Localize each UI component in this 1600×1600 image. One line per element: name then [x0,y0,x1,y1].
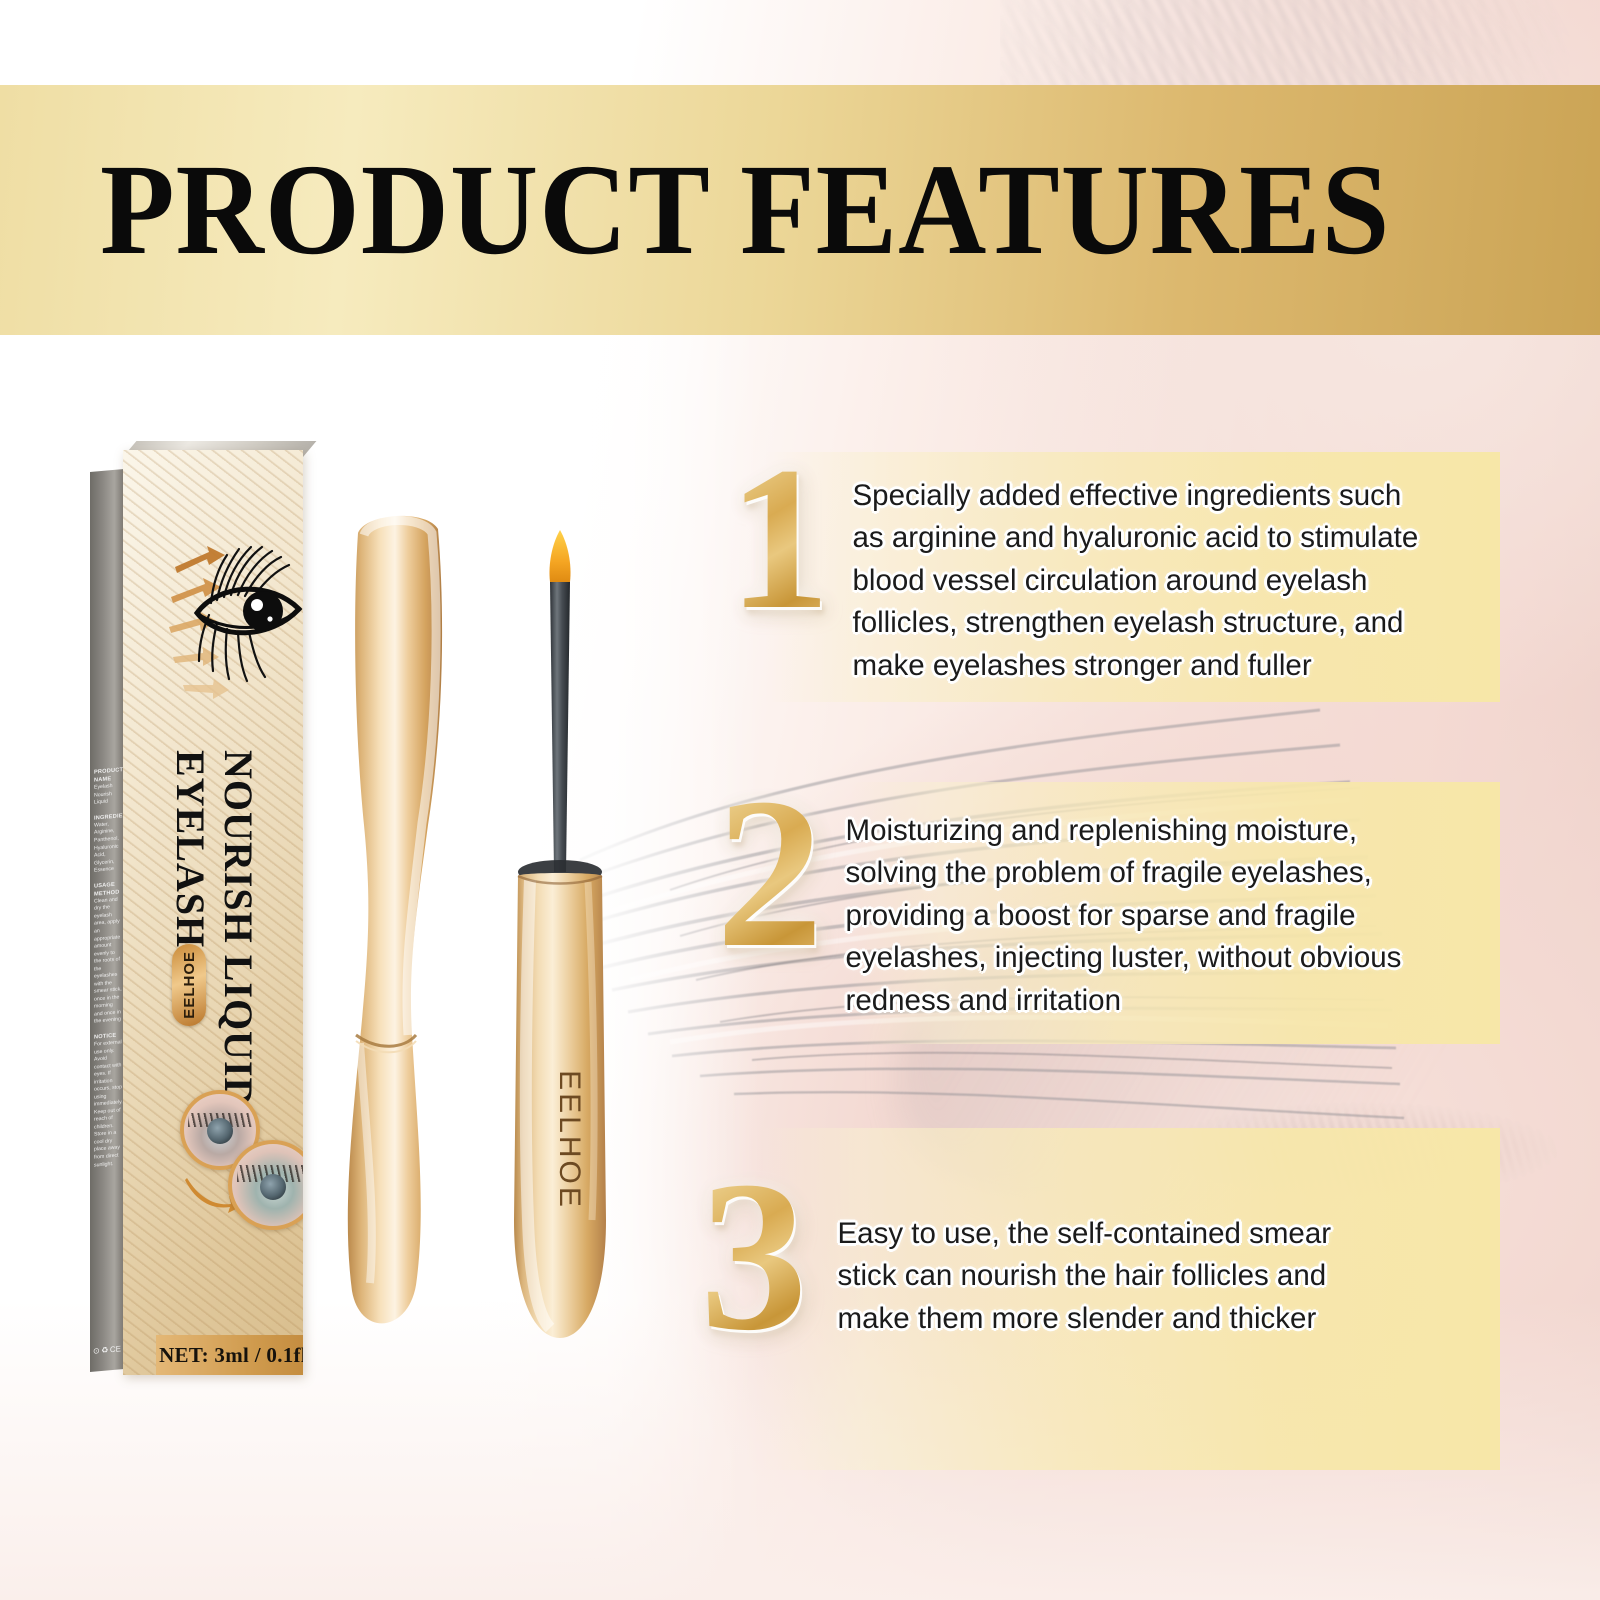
feature-text-2: Moisturizing and replenishing moisture, … [846,790,1416,1022]
feature-item-3: 3 Easy to use, the self-contained smear … [700,1165,1510,1353]
net-content-text: NET: 3ml / 0.1fl.oz [159,1343,303,1368]
feature-number-3: 3 [700,1159,808,1353]
box-title-eyelash: EYELASH [167,750,214,948]
side-product-name-heading: PRODUCT NAME [94,766,122,785]
recycle-icon: ♻ [101,1345,108,1355]
box-compliance-icons: ⊙ ♻ CE ▤ [93,1341,123,1358]
ce-mark-icon: CE [110,1344,121,1354]
header-banner: PRODUCT FEATURES [0,85,1600,335]
after-eye-photo [228,1140,303,1230]
net-content-bar: NET: 3ml / 0.1fl.oz [156,1335,303,1375]
brush-tip [549,530,570,582]
before-iris [207,1118,233,1144]
box-eye-illustration [167,505,303,720]
feature-text-3: Easy to use, the self-contained smear st… [838,1165,1383,1340]
product-box: PRODUCT NAME Eyelash Nourish Liquid INGR… [90,450,305,1380]
feature-number-2: 2 [716,776,824,970]
feature-number-1: 1 [728,447,831,632]
wand-stem [550,582,570,872]
brand-badge: EELHOE [172,944,206,1026]
page-title: PRODUCT FEATURES [100,145,1390,275]
brand-name: EELHOE [181,951,198,1019]
box-side-text: PRODUCT NAME Eyelash Nourish Liquid INGR… [94,759,122,1169]
product-tube-closed [330,495,470,1350]
box-front-face: EYELASH NOURISH LIQUID EELHOE NET: 3ml /… [123,450,303,1375]
after-iris [260,1174,286,1200]
side-notice-value: For external use only. Avoid contact wit… [94,1039,123,1168]
product-bottle-applicator: EELHOE [480,520,640,1370]
box-title-nourish-liquid: NOURISH LIQUID [215,750,262,1107]
feature-item-1: 1 Specially added effective ingredients … [728,455,1518,687]
side-ingredient-value: Water, Arginine, Panthenol, Hyaluronic A… [94,821,119,873]
side-product-name-value: Eyelash Nourish Liquid [94,783,112,806]
bottle-brand-text: EELHOE [553,1070,586,1210]
feature-item-2: 2 Moisturizing and replenishing moisture… [716,790,1516,1022]
feature-text-1: Specially added effective ingredients su… [853,455,1428,687]
side-usage-value: Clean and dry the eyelash area, apply an… [94,896,122,1025]
box-side-panel: PRODUCT NAME Eyelash Nourish Liquid INGR… [90,469,124,1372]
period-after-opening-icon: ⊙ [93,1346,100,1356]
